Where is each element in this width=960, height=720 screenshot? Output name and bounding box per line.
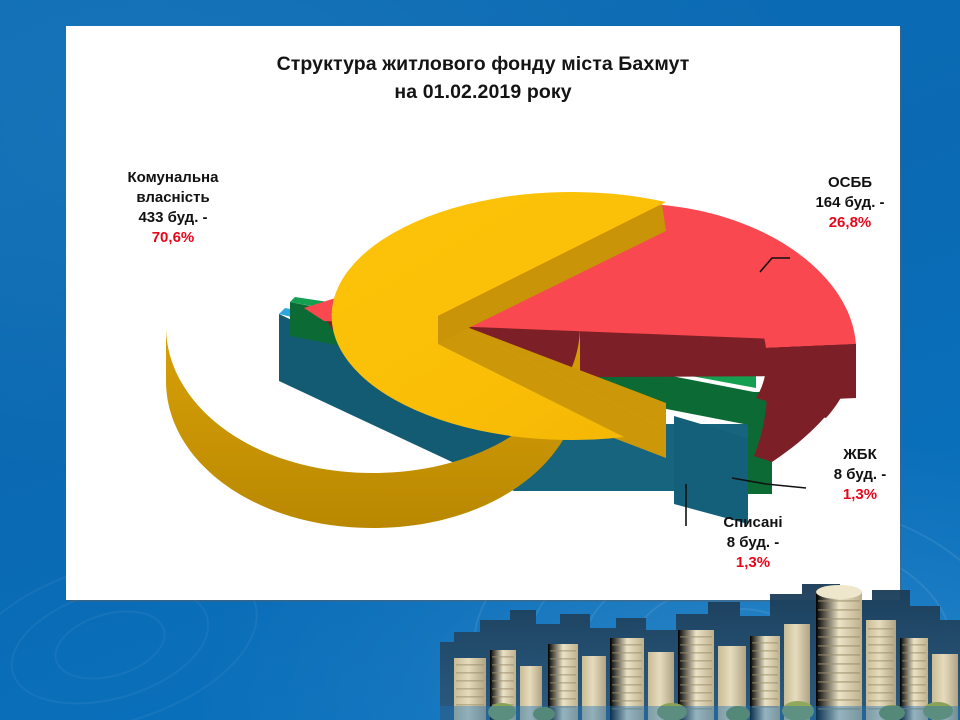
label-spysani-count: 8 буд. - xyxy=(668,533,838,553)
label-osbb-name: ОСББ xyxy=(770,173,930,193)
label-spysani-percent: 1,3% xyxy=(668,553,838,573)
label-zhbk: ЖБК 8 буд. - 1,3% xyxy=(790,445,930,505)
label-osbb: ОСББ 164 буд. - 26,8% xyxy=(770,173,930,233)
label-komunalna-name1: Комунальна xyxy=(78,168,268,188)
label-komunalna-name2: власність xyxy=(78,188,268,208)
label-zhbk-percent: 1,3% xyxy=(790,485,930,505)
label-osbb-percent: 26,8% xyxy=(770,213,930,233)
label-komunalna-count: 433 буд. - xyxy=(78,208,268,228)
chart-title-line1: Структура житлового фонду міста Бахмут xyxy=(66,50,900,78)
chart-title: Структура житлового фонду міста Бахмут н… xyxy=(66,50,900,107)
label-komunalna: Комунальна власність 433 буд. - 70,6% xyxy=(78,168,268,248)
label-osbb-count: 164 буд. - xyxy=(770,193,930,213)
label-komunalna-percent: 70,6% xyxy=(78,228,268,248)
label-spysani: Списані 8 буд. - 1,3% xyxy=(668,513,838,573)
cityscape-image xyxy=(440,580,960,720)
label-zhbk-name: ЖБК xyxy=(790,445,930,465)
label-zhbk-count: 8 буд. - xyxy=(790,465,930,485)
slide: Структура житлового фонду міста Бахмут н… xyxy=(0,0,960,720)
label-spysani-name: Списані xyxy=(668,513,838,533)
chart-title-line2: на 01.02.2019 року xyxy=(66,78,900,106)
